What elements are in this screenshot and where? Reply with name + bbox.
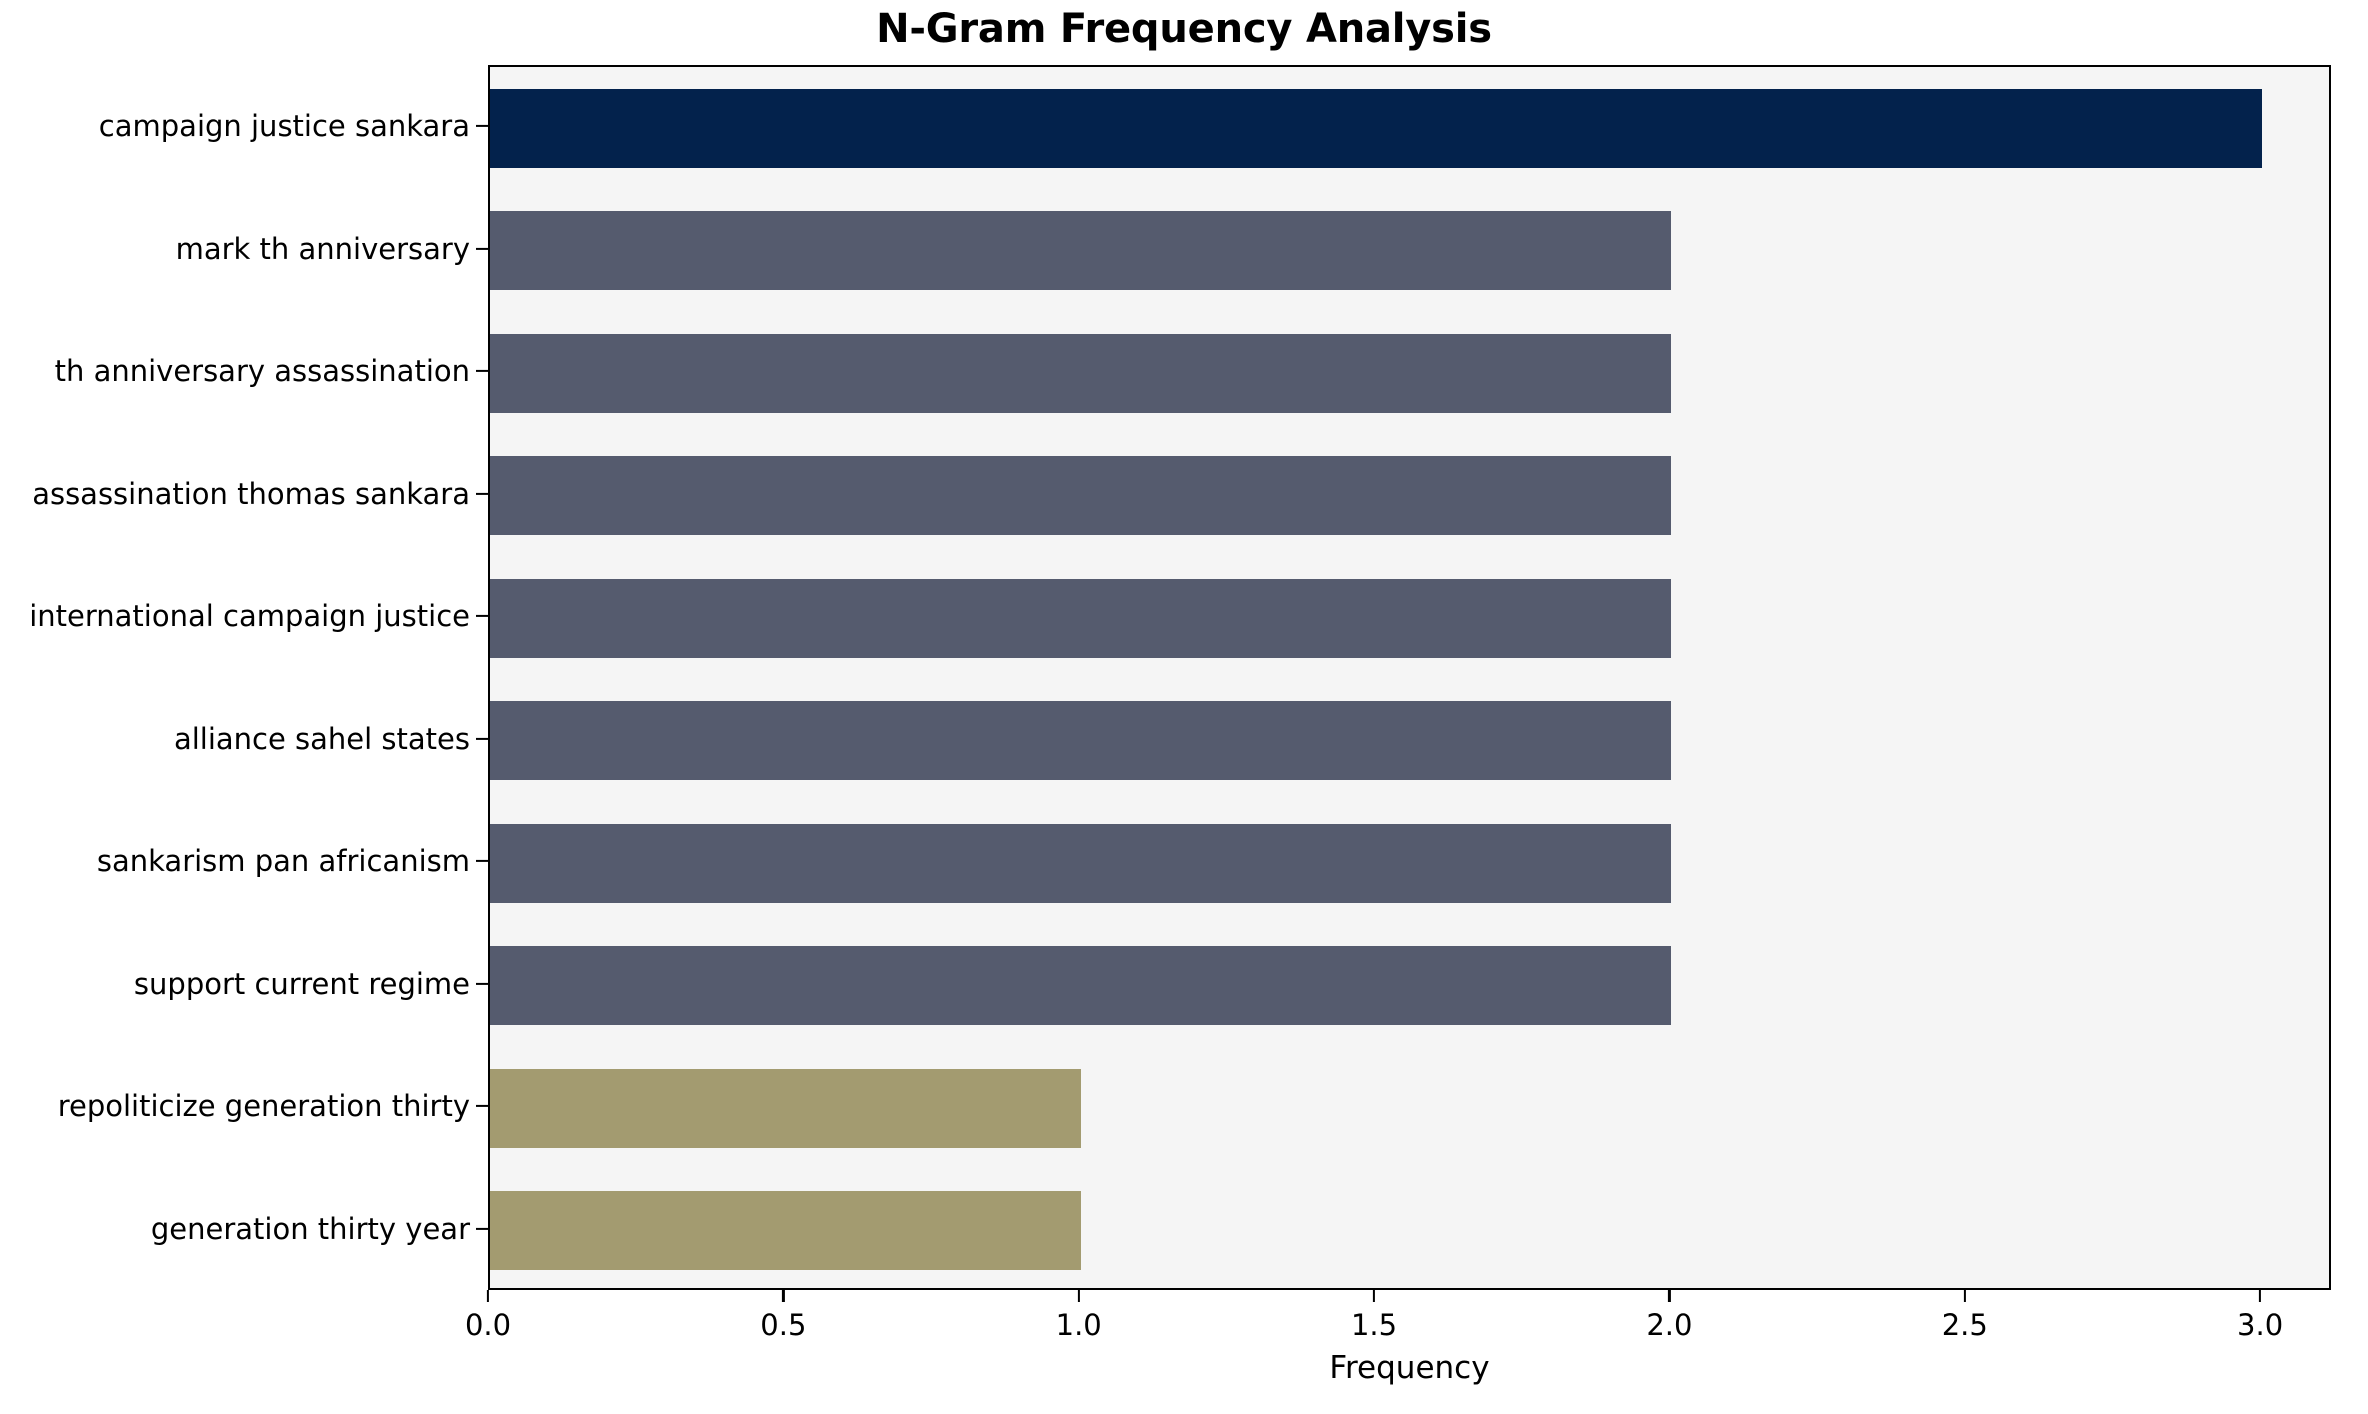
y-tick-label: support current regime [134, 967, 470, 1001]
x-tick-mark [782, 1290, 784, 1302]
y-tick-label: sankarism pan africanism [97, 844, 470, 878]
bar [490, 824, 1671, 903]
y-tick-mark [476, 615, 488, 617]
x-tick-label: 2.0 [1646, 1308, 1692, 1342]
y-tick-label: alliance sahel states [174, 722, 470, 756]
x-tick-label: 0.0 [465, 1308, 511, 1342]
plot-area [488, 65, 2331, 1290]
y-tick-mark [476, 125, 488, 127]
y-tick-mark [476, 370, 488, 372]
y-tick-label: international campaign justice [29, 599, 470, 633]
bar [490, 946, 1671, 1025]
x-tick-mark [2259, 1290, 2261, 1302]
y-tick-label: th anniversary assassination [55, 354, 470, 388]
x-tick-mark [1373, 1290, 1375, 1302]
y-tick-mark [476, 860, 488, 862]
x-tick-label: 2.5 [1942, 1308, 1988, 1342]
y-tick-label: campaign justice sankara [99, 109, 470, 143]
bar [490, 1191, 1081, 1270]
y-tick-label: repoliticize generation thirty [58, 1089, 470, 1123]
x-tick-mark [1668, 1290, 1670, 1302]
bar [490, 211, 1671, 290]
figure-canvas: N-Gram Frequency Analysis campaign justi… [0, 0, 2368, 1414]
bar [490, 334, 1671, 413]
x-tick-label: 1.5 [1351, 1308, 1397, 1342]
bar [490, 579, 1671, 658]
chart-title: N-Gram Frequency Analysis [0, 6, 2368, 52]
y-tick-mark [476, 248, 488, 250]
y-tick-mark [476, 983, 488, 985]
y-tick-mark [476, 1228, 488, 1230]
x-tick-label: 0.5 [760, 1308, 806, 1342]
y-tick-label: mark th anniversary [176, 232, 470, 266]
x-tick-mark [1078, 1290, 1080, 1302]
bars-layer [490, 67, 2329, 1288]
x-tick-label: 3.0 [2237, 1308, 2283, 1342]
y-tick-label: generation thirty year [151, 1212, 470, 1246]
x-tick-mark [487, 1290, 489, 1302]
y-axis-tick-labels: campaign justice sankaramark th annivers… [0, 65, 470, 1290]
bar [490, 456, 1671, 535]
x-tick-mark [1964, 1290, 1966, 1302]
y-tick-mark [476, 493, 488, 495]
bar [490, 89, 2262, 168]
x-tick-label: 1.0 [1056, 1308, 1102, 1342]
y-tick-mark [476, 738, 488, 740]
y-tick-label: assassination thomas sankara [32, 477, 470, 511]
bar [490, 1069, 1081, 1148]
x-axis-label: Frequency [488, 1350, 2331, 1386]
y-tick-mark [476, 1105, 488, 1107]
bar [490, 701, 1671, 780]
